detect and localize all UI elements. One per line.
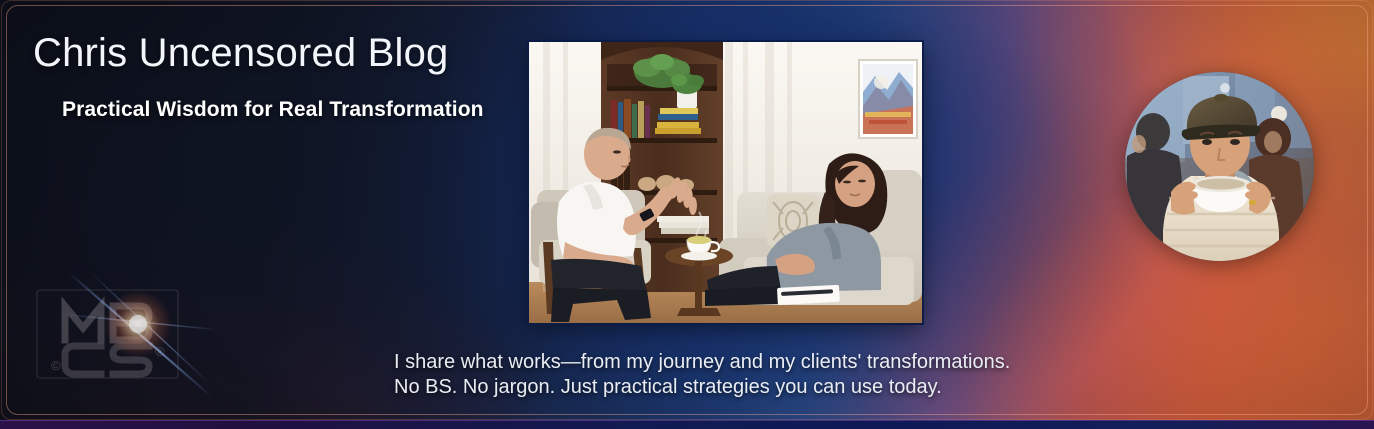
tagline-block: I share what works—from my journey and m… — [394, 350, 1010, 400]
therapy-session-photo — [529, 42, 922, 323]
blog-header-banner: © ® — [0, 0, 1374, 429]
tagline-line-1: I share what works—from my journey and m… — [394, 350, 1010, 375]
tagline-line-2: No BS. No jargon. Just practical strateg… — [394, 375, 1010, 400]
page-title: Chris Uncensored Blog — [33, 31, 449, 76]
banner-bottom-strip — [0, 420, 1374, 429]
page-subtitle: Practical Wisdom for Real Transformation — [62, 98, 484, 122]
author-avatar — [1125, 72, 1314, 261]
